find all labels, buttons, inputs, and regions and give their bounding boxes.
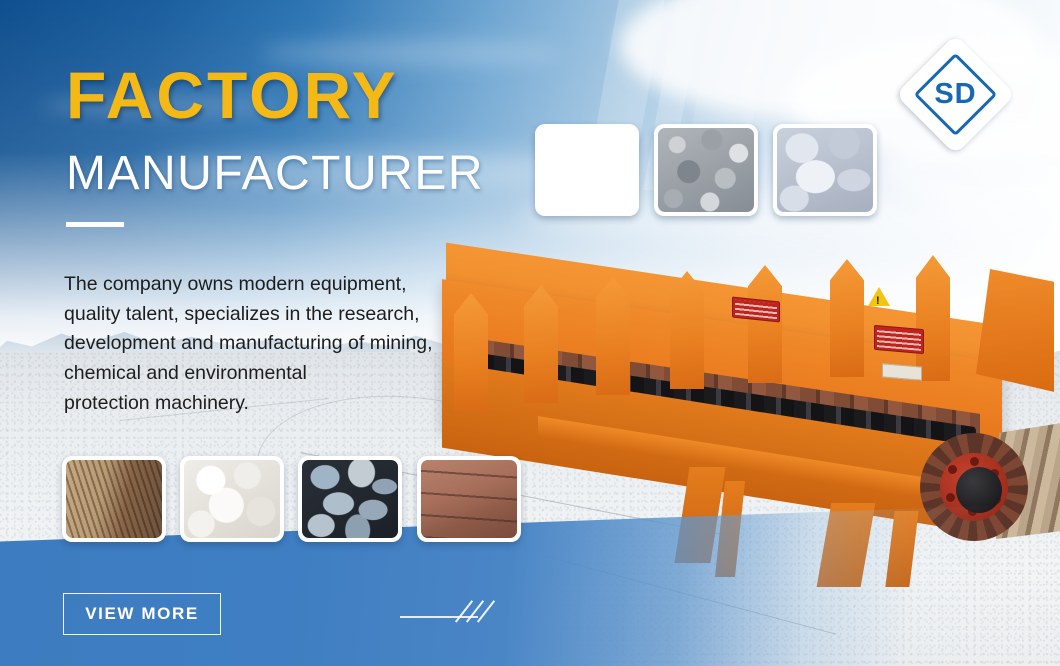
warning-label-text (877, 328, 921, 351)
sprocket-bolt (970, 457, 979, 466)
thumbnail-image (777, 128, 873, 212)
thumbnail-image (658, 128, 754, 212)
logo-text: SD (913, 52, 998, 137)
description-paragraph: The company owns modern equipment, quali… (64, 270, 444, 418)
blue-gray-stones-thumbnail[interactable] (773, 124, 877, 216)
feeder-side-plate (748, 265, 782, 383)
arrow-motif-line (400, 616, 478, 618)
feeder-side-plate (916, 255, 950, 381)
sprocket-bolt (948, 465, 957, 474)
feeder-side-plate (670, 271, 704, 389)
hazard-exclamation-glyph: ! (876, 295, 880, 307)
sd-logo[interactable]: SD (913, 52, 998, 137)
feeder-side-plate (454, 293, 488, 411)
feeder-side-plate (830, 259, 864, 377)
red-slabs-thumbnail[interactable] (417, 456, 521, 542)
sprocket-bolt (946, 493, 955, 502)
promo-banner: ! FACTORY MANUFACTURER The company owns … (0, 0, 1060, 666)
headline-primary: FACTORY (66, 62, 399, 128)
thumbnail-image (539, 128, 635, 212)
thumbnail-image (66, 460, 162, 538)
tan-pebbles-thumbnail[interactable] (535, 124, 639, 216)
view-more-button[interactable]: VIEW MORE (63, 593, 221, 635)
warning-label-lower (874, 325, 924, 354)
headline-secondary: MANUFACTURER (66, 150, 484, 198)
thumbnail-image (184, 460, 280, 538)
layered-rock-thumbnail[interactable] (62, 456, 166, 542)
gray-gravel-thumbnail[interactable] (654, 124, 758, 216)
white-quartz-thumbnail[interactable] (180, 456, 284, 542)
warning-label-text (735, 300, 777, 319)
feeder-side-plate (524, 285, 558, 403)
feeder-side-plate (596, 277, 630, 395)
heading-divider (66, 222, 124, 227)
blue-pebbles-thumbnail[interactable] (298, 456, 402, 542)
thumbnail-image (302, 460, 398, 538)
thumbnail-image (421, 460, 517, 538)
